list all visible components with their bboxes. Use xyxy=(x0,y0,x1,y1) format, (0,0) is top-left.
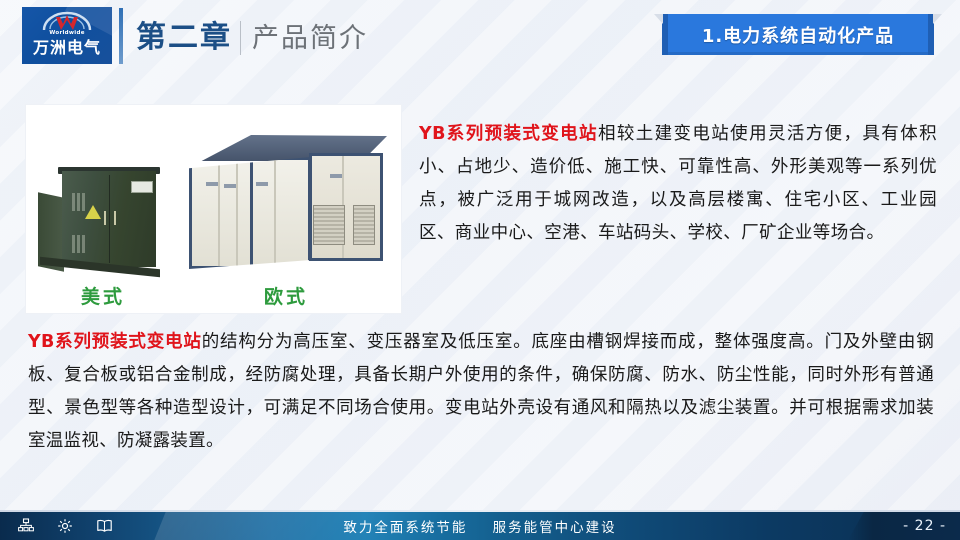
paragraph-right: YB系列预装式变电站相较土建变电站使用灵活方便，具有体积小、占地少、造价低、施工… xyxy=(419,118,937,250)
us-door-handle xyxy=(114,211,116,225)
paragraph-bottom-keyword: YB系列预装式变电站 xyxy=(28,332,202,352)
banner-label: 1.电力系统自动化产品 xyxy=(654,14,942,55)
eu-side-wall xyxy=(189,157,311,269)
us-door-handle xyxy=(104,211,106,225)
us-vent xyxy=(77,235,80,253)
footer-slogan-gap xyxy=(467,518,492,534)
slide-footer: 致力全面系统节能 服务能管中心建设 - 22 - xyxy=(0,512,960,540)
eu-panel-line xyxy=(250,160,253,266)
page-number: - 22 - xyxy=(903,512,946,540)
product-photo-panel: 美式 欧式 xyxy=(25,104,402,314)
us-vent xyxy=(77,193,80,211)
footer-slogan-left: 致力全面系统节能 xyxy=(343,516,467,536)
us-door-split xyxy=(109,175,110,263)
footer-slogan: 致力全面系统节能 服务能管中心建设 xyxy=(0,512,960,540)
paragraph-bottom: YB系列预装式变电站的结构分为高压室、变压器室及低压室。底座由槽钢焊接而成，整体… xyxy=(28,326,934,458)
eu-seam xyxy=(218,160,220,266)
eu-ventilation-grill xyxy=(353,205,375,245)
us-vent xyxy=(72,235,75,253)
company-logo: Worldwide 万洲电气 xyxy=(22,7,112,64)
page-title: 第二章 xyxy=(136,18,232,58)
eu-seam xyxy=(274,160,276,266)
header-divider-bar xyxy=(119,8,123,64)
section-banner: 1.电力系统自动化产品 xyxy=(654,14,942,55)
photo-caption-european: 欧式 xyxy=(264,282,308,309)
eu-seam xyxy=(236,160,238,266)
photo-caption-american: 美式 xyxy=(81,282,125,309)
warning-triangle-icon xyxy=(85,205,101,219)
eu-label-tag xyxy=(206,182,218,186)
us-vent xyxy=(72,193,75,211)
logo-brand-en: Worldwide xyxy=(49,30,85,36)
eu-label-tag xyxy=(224,184,236,188)
footer-slogan-right: 服务能管中心建设 xyxy=(493,516,617,536)
page-subtitle: 产品简介 xyxy=(252,19,368,59)
eu-ventilation-grill xyxy=(313,205,345,245)
eu-label-tag xyxy=(330,174,342,178)
slide-header: Worldwide 万洲电气 第二章 产品简介 1.电力系统自动化产品 xyxy=(0,0,960,82)
photo-american-substation xyxy=(38,163,163,275)
title-separator xyxy=(240,21,241,55)
paragraph-right-keyword: YB系列预装式变电站 xyxy=(419,124,598,144)
logo-brand-cn: 万洲电气 xyxy=(22,38,112,58)
us-vent xyxy=(82,235,85,253)
photo-european-substation xyxy=(181,127,387,277)
us-name-plate xyxy=(131,181,153,193)
slide-root: Worldwide 万洲电气 第二章 产品简介 1.电力系统自动化产品 xyxy=(0,0,960,540)
eu-label-tag xyxy=(256,182,268,186)
